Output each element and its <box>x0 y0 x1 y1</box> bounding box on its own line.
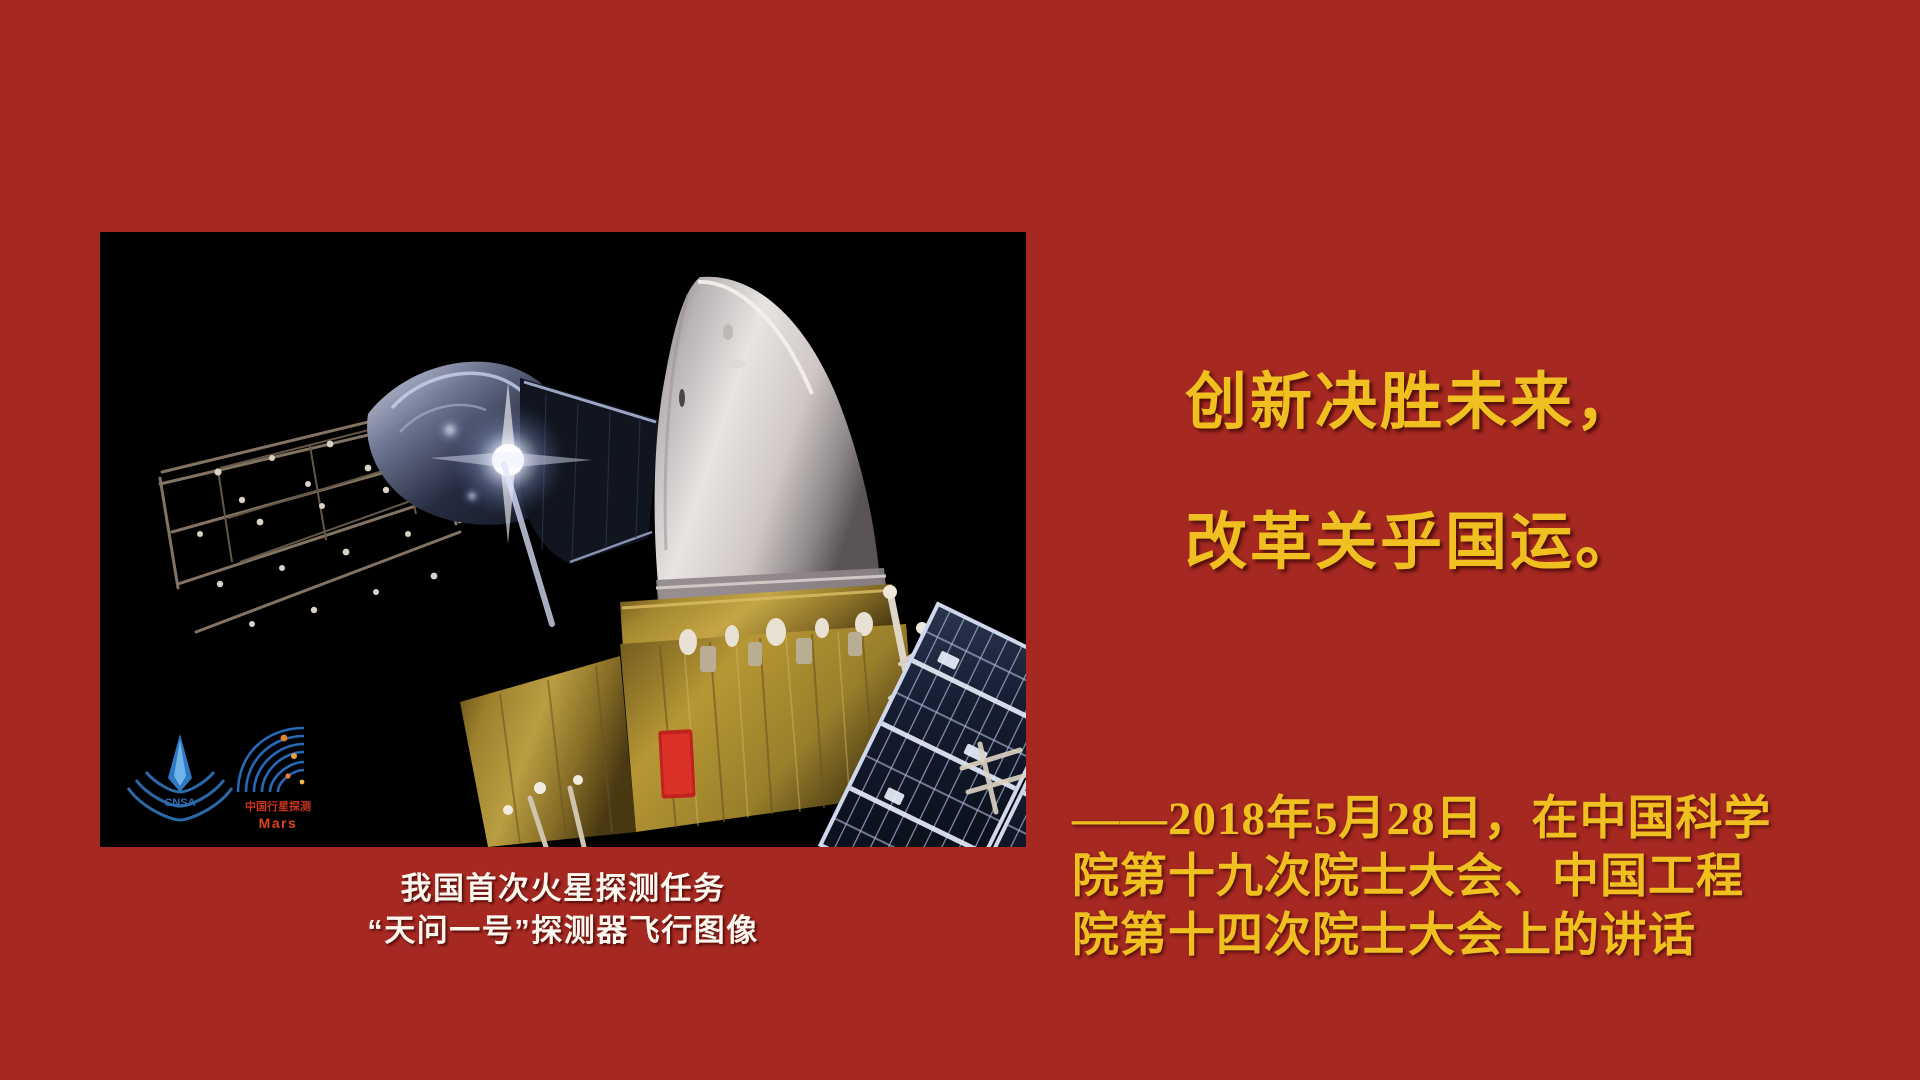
svg-text:CNSA: CNSA <box>164 797 195 809</box>
quote-attribution: ——2018年5月28日，在中国科学 院第十九次院士大会、中国工程 院第十四次院… <box>1072 790 1842 965</box>
spacecraft-photo: CNSA <box>100 232 1026 847</box>
attribution-line-3: 院第十四次院士大会上的讲话 <box>1072 907 1842 965</box>
attribution-line-2: 院第十九次院士大会、中国工程 <box>1072 848 1842 906</box>
quote-line-1: 创新决胜未来， <box>1185 372 1825 434</box>
photo-caption: 我国首次火星探测任务 “天问一号”探测器飞行图像 <box>100 868 1026 951</box>
caption-line-2: “天问一号”探测器飞行图像 <box>100 910 1026 952</box>
quote-line-2: 改革关乎国运。 <box>1185 512 1825 574</box>
caption-line-1: 我国首次火星探测任务 <box>100 868 1026 910</box>
attribution-line-1: ——2018年5月28日，在中国科学 <box>1072 790 1842 848</box>
svg-text:Mars: Mars <box>259 815 298 831</box>
quote-block: 创新决胜未来， 改革关乎国运。 <box>1185 372 1825 574</box>
tianwen-1-photo-graphic: CNSA <box>100 232 1026 847</box>
presentation-slide: CNSA <box>0 0 1920 1080</box>
svg-text:中国行星探测: 中国行星探测 <box>245 799 311 813</box>
